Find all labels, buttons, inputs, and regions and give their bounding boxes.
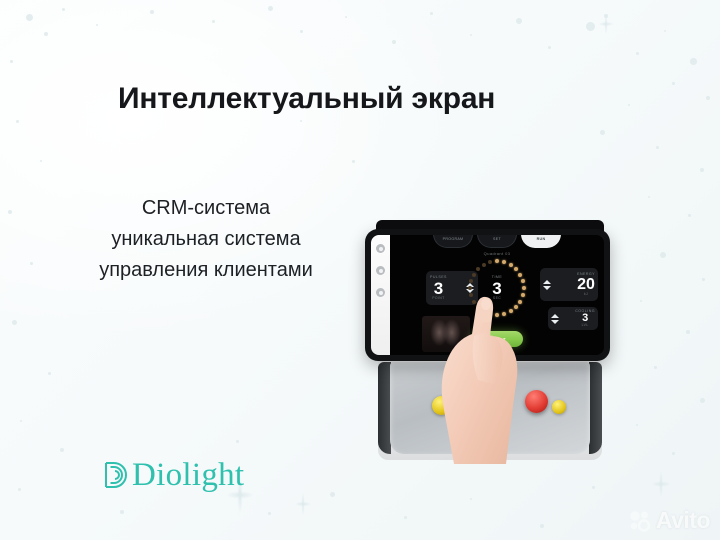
subtitle-block: CRM-система уникальная система управлени… — [60, 193, 352, 286]
brand-logo: Diolight — [100, 455, 244, 495]
chevron-down-icon[interactable] — [551, 320, 559, 324]
avito-wordmark: Avito — [656, 509, 710, 532]
chevron-up-icon[interactable] — [543, 280, 551, 284]
brand-name: Diolight — [132, 459, 244, 492]
body-side-right — [589, 362, 602, 454]
subtitle-line-3: управления клиентами — [60, 255, 352, 286]
quadrant-label: Quadrant 03 — [484, 251, 511, 256]
screen-sidebar — [371, 235, 390, 355]
yellow-knob-small-button[interactable] — [552, 400, 566, 414]
subtitle-line-2: уникальная система — [60, 224, 352, 255]
chevron-up-icon[interactable] — [551, 314, 559, 318]
nested-arc-d-icon — [100, 458, 134, 492]
tab-set[interactable]: SET — [477, 235, 517, 248]
settings-icon[interactable] — [376, 266, 385, 275]
cooling-stepper[interactable] — [551, 314, 559, 324]
slide-canvas: Интеллектуальный экран CRM-система уника… — [0, 0, 720, 540]
device-illustration: PROGRAM SET RUN Quadrant 03 PULSES 3 POI… — [352, 196, 624, 464]
cooling-panel[interactable]: COOLING 3 LVL — [548, 307, 598, 330]
energy-unit: kJ — [584, 293, 588, 296]
page-title: Интеллектуальный экран — [118, 82, 495, 116]
tab-program[interactable]: PROGRAM — [433, 235, 473, 248]
cooling-unit: LVL — [582, 324, 589, 327]
avito-watermark: Avito — [629, 509, 710, 532]
energy-stepper[interactable] — [543, 280, 551, 290]
energy-readout: ENERGY 20 kJ — [577, 273, 595, 296]
energy-panel[interactable]: ENERGY 20 kJ — [540, 268, 598, 301]
energy-value: 20 — [577, 277, 595, 293]
subtitle-line-1: CRM-система — [60, 193, 352, 224]
pointing-hand-image — [414, 292, 524, 464]
avito-circles-icon — [629, 510, 651, 532]
tab-run[interactable]: RUN — [521, 235, 561, 248]
screen-tab-bar: PROGRAM SET RUN — [433, 235, 561, 248]
chevron-down-icon[interactable] — [543, 286, 551, 290]
menu-dots-icon[interactable] — [376, 244, 385, 253]
emergency-stop-button[interactable] — [525, 390, 548, 413]
cooling-readout: COOLING 3 LVL — [575, 310, 595, 328]
user-icon[interactable] — [376, 288, 385, 297]
